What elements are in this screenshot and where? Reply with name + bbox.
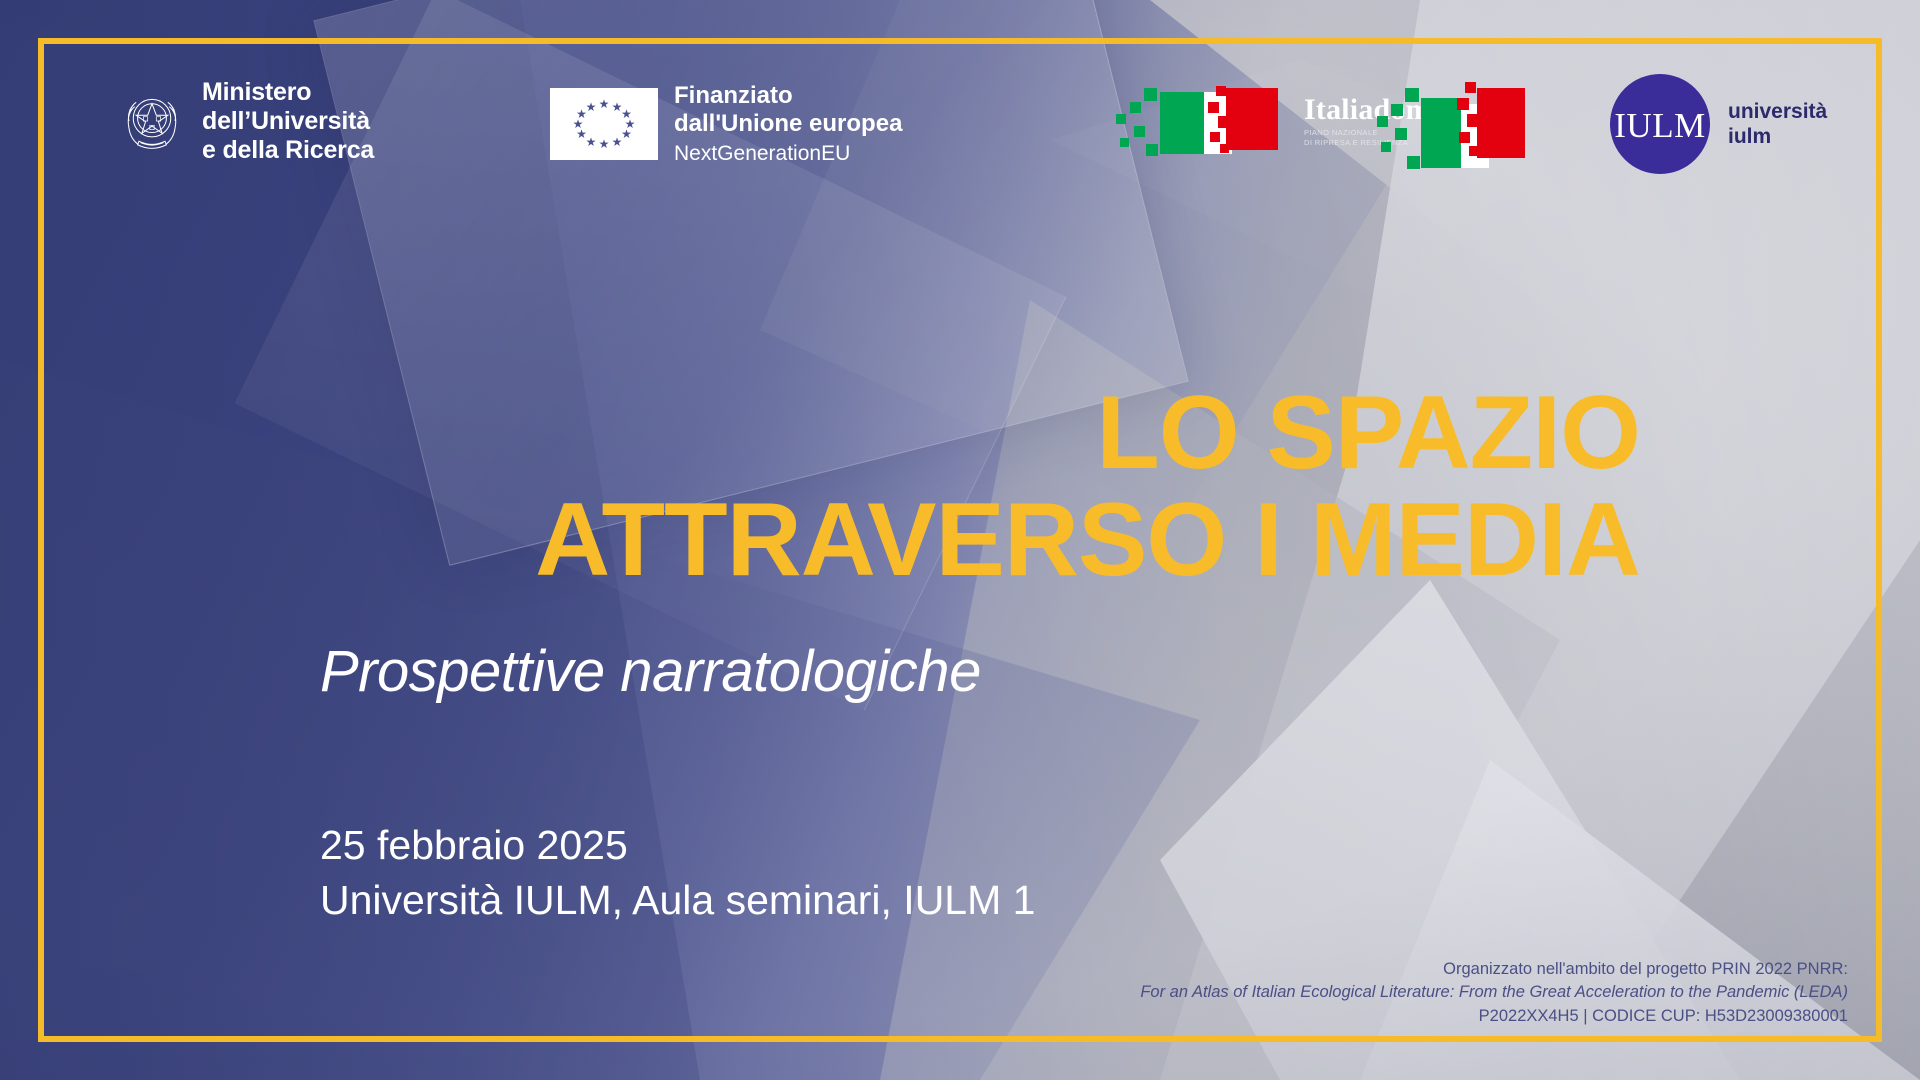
project-credit-footer: Organizzato nell'ambito del progetto PRI… <box>1140 958 1848 1028</box>
event-poster: Ministero dell’Università e della Ricerc… <box>0 0 1920 1080</box>
poster-subtitle: Prospettive narratologiche <box>320 640 981 704</box>
iulm-line-1: università <box>1728 99 1827 124</box>
iulm-logo: IULM università iulm <box>1610 74 1827 174</box>
eu-line-3: NextGenerationEU <box>674 142 902 167</box>
event-details: 25 febbraio 2025 Università IULM, Aula s… <box>320 818 1035 927</box>
ministry-logo: Ministero dell’Università e della Ricerc… <box>116 78 374 164</box>
title-line-2: ATTRAVERSO I MEDIA <box>0 487 1640 594</box>
ministry-line-2: dell’Università <box>202 107 374 136</box>
ministry-line-3: e della Ricerca <box>202 136 374 165</box>
ministry-logo-text: Ministero dell’Università e della Ricerc… <box>202 78 374 164</box>
title-line-1: LO SPAZIO <box>0 380 1640 487</box>
italian-republic-emblem-icon <box>116 85 188 157</box>
italiadomani-flag-icon <box>1100 86 1300 156</box>
eu-line-1: Finanziato <box>674 82 902 110</box>
european-union-flag-icon: ★ ★ ★ ★ ★ ★ ★ ★ ★ ★ ★ ★ <box>550 88 658 160</box>
sponsor-logo-bar: Ministero dell’Università e della Ricerc… <box>100 74 1840 174</box>
eu-funding-logo: ★ ★ ★ ★ ★ ★ ★ ★ ★ ★ ★ ★ Finanziato dall'… <box>550 82 902 166</box>
eu-line-2: dall'Unione europea <box>674 110 902 138</box>
iulm-logo-text: università iulm <box>1728 99 1827 149</box>
event-date: 25 febbraio 2025 <box>320 818 1035 873</box>
eu-funding-text: Finanziato dall'Unione europea NextGener… <box>674 82 902 166</box>
event-venue: Università IULM, Aula seminari, IULM 1 <box>320 873 1035 928</box>
iulm-wordmark: IULM <box>1614 108 1705 143</box>
italia-pixel-flag-logo <box>1365 80 1525 172</box>
ministry-line-1: Ministero <box>202 78 374 107</box>
footer-line-3: P2022XX4H5 | CODICE CUP: H53D23009380001 <box>1140 1005 1848 1028</box>
poster-title: LO SPAZIO ATTRAVERSO I MEDIA <box>0 380 1640 594</box>
footer-line-1: Organizzato nell'ambito del progetto PRI… <box>1140 958 1848 981</box>
iulm-circle-badge: IULM <box>1610 74 1710 174</box>
iulm-line-2: iulm <box>1728 124 1827 149</box>
footer-line-2: For an Atlas of Italian Ecological Liter… <box>1140 981 1848 1004</box>
italian-flag-icon <box>1365 80 1525 172</box>
